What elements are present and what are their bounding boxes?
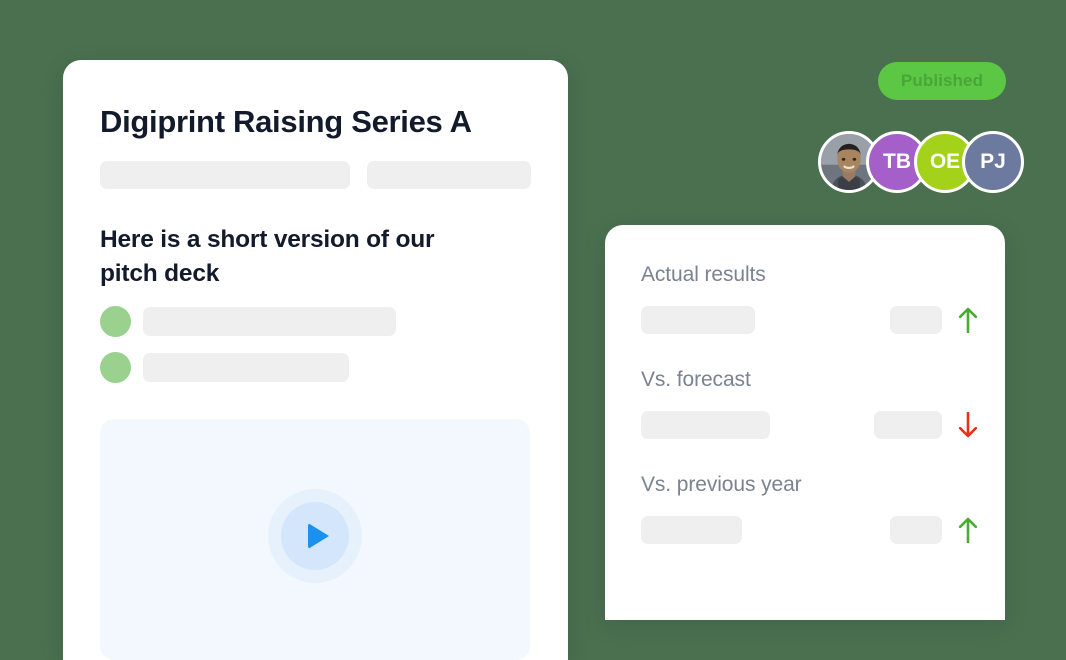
pitch-subtitle: Here is a short version of our pitch dec… <box>100 223 480 291</box>
avatar-initials: TB <box>883 150 911 174</box>
result-row <box>641 306 981 334</box>
screenshot-stage: Digiprint Raising Series A Here is a sho… <box>0 0 1066 620</box>
result-label: Vs. previous year <box>641 473 981 497</box>
play-button-inner-ring <box>281 502 349 570</box>
result-group-actual-results: Actual results <box>641 263 981 334</box>
result-row <box>641 411 981 439</box>
avatar-initials: OE <box>930 150 960 174</box>
result-value-placeholder <box>890 516 942 544</box>
bullet-dot-icon <box>100 306 131 337</box>
result-placeholder-bar <box>641 516 742 544</box>
status-badge: Published <box>878 62 1006 100</box>
play-button[interactable] <box>268 489 362 583</box>
play-icon <box>308 523 329 549</box>
bullet-placeholder-bar <box>143 307 396 336</box>
avatar-pj[interactable]: PJ <box>962 131 1024 193</box>
result-label: Actual results <box>641 263 981 287</box>
bullet-placeholder-bar <box>143 353 349 382</box>
avatar-initials: PJ <box>980 150 1006 174</box>
result-group-vs-previous-year: Vs. previous year <box>641 473 981 544</box>
results-card: Actual results Vs. forecast <box>605 225 1005 620</box>
meta-placeholder-bar-2 <box>367 161 531 189</box>
result-row <box>641 516 981 544</box>
result-value-placeholder <box>874 411 942 439</box>
page-title: Digiprint Raising Series A <box>100 104 472 140</box>
meta-placeholder-bar-1 <box>100 161 350 189</box>
pitch-deck-card: Digiprint Raising Series A Here is a sho… <box>63 60 568 660</box>
result-group-vs-forecast: Vs. forecast <box>641 368 981 439</box>
arrow-up-icon <box>955 517 981 543</box>
video-player-panel[interactable] <box>100 419 530 660</box>
result-label: Vs. forecast <box>641 368 981 392</box>
result-placeholder-bar <box>641 306 755 334</box>
bullet-dot-icon <box>100 352 131 383</box>
bullet-list-item-2 <box>100 352 349 383</box>
arrow-up-icon <box>955 307 981 333</box>
avatar-group: TB OE PJ <box>818 131 1024 193</box>
result-placeholder-bar <box>641 411 770 439</box>
arrow-down-icon <box>955 412 981 438</box>
bullet-list-item-1 <box>100 306 396 337</box>
result-value-placeholder <box>890 306 942 334</box>
